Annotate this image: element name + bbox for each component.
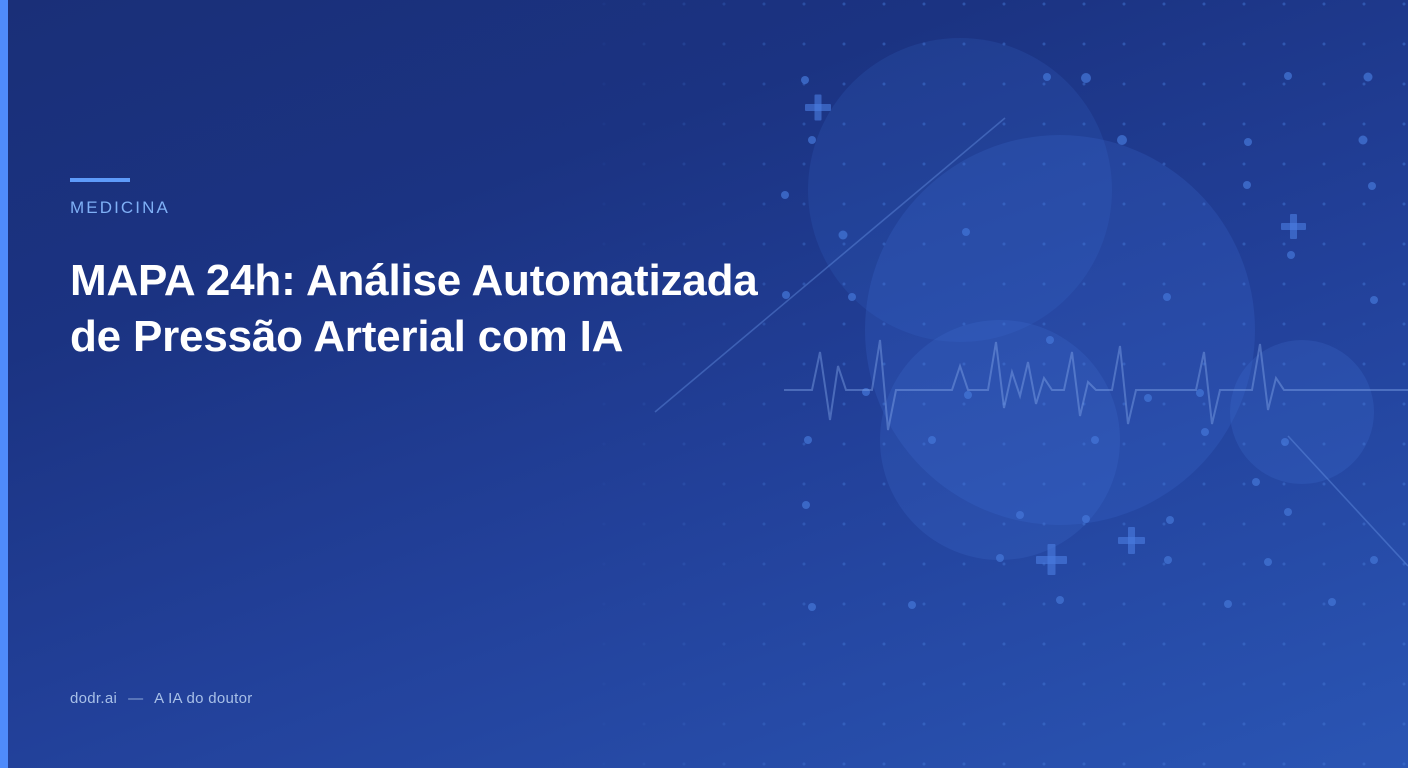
scatter-dots	[781, 72, 1378, 611]
footer-tagline: A IA do doutor	[154, 690, 252, 707]
decor-circle-4	[1230, 340, 1374, 484]
slide-content: MEDICINA MAPA 24h: Análise Automatizadad…	[70, 0, 830, 768]
plus-icon-4	[1118, 527, 1145, 554]
category-kicker: MEDICINA	[70, 198, 170, 218]
slide-footer: dodr.ai — A IA do doutor	[70, 690, 253, 707]
plus-marks	[805, 95, 1306, 576]
decor-circle-3	[880, 320, 1120, 560]
page-title-line-2: de Pressão Arterial com IA	[70, 312, 623, 361]
page-title-line-1: MAPA 24h: Análise Automatizada	[70, 256, 758, 305]
footer-brand: dodr.ai	[70, 690, 117, 707]
decor-circle-1	[808, 38, 1112, 342]
kicker-rule	[70, 178, 130, 182]
decor-circles	[808, 38, 1374, 560]
footer-separator: —	[128, 690, 143, 707]
plus-icon-3	[1036, 544, 1067, 575]
slide-canvas: MEDICINA MAPA 24h: Análise Automatizadad…	[0, 0, 1408, 768]
page-title: MAPA 24h: Análise Automatizadade Pressão…	[70, 253, 810, 366]
ecg-waveform	[784, 340, 1408, 430]
decor-circle-2	[865, 135, 1255, 525]
diagonal-line-2	[1288, 436, 1408, 566]
left-edge-accent	[0, 0, 8, 768]
ecg-line	[784, 340, 1408, 430]
plus-icon-2	[1281, 214, 1306, 239]
